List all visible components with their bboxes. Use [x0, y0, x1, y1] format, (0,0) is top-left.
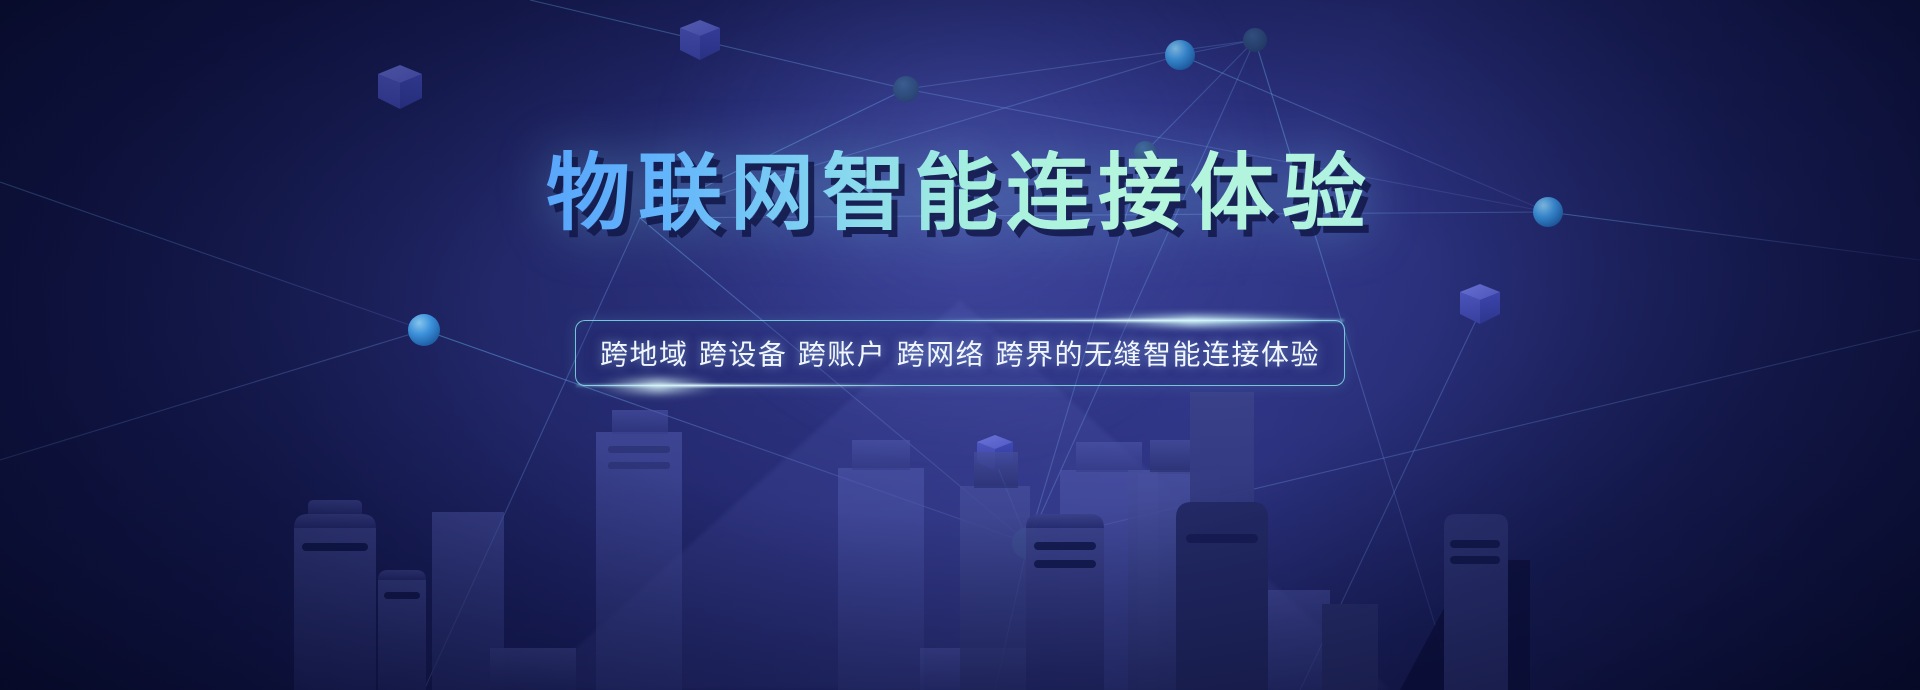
- hero-banner: 物联网智能连接体验 跨地域 跨设备 跨账户 跨网络 跨界的无缝智能连接体验: [0, 0, 1920, 690]
- subtitle-wrapper: 跨地域 跨设备 跨账户 跨网络 跨界的无缝智能连接体验: [575, 320, 1345, 386]
- subtitle-box: 跨地域 跨设备 跨账户 跨网络 跨界的无缝智能连接体验: [575, 320, 1345, 386]
- page-title: 物联网智能连接体验: [546, 150, 1374, 237]
- subtitle-text: 跨地域 跨设备 跨账户 跨网络 跨界的无缝智能连接体验: [600, 333, 1320, 373]
- hero-content: 物联网智能连接体验 跨地域 跨设备 跨账户 跨网络 跨界的无缝智能连接体验: [0, 0, 1920, 386]
- glow-line-top: [924, 319, 1344, 322]
- glow-line-bottom: [576, 384, 906, 387]
